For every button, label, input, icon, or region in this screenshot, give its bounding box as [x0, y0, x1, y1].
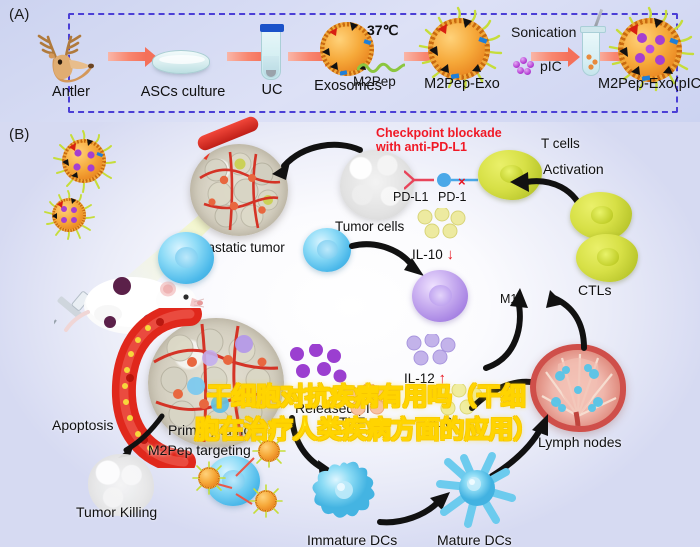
nanoparticle-1-cargo: [62, 139, 106, 183]
m2-macrophage-1: [158, 232, 214, 284]
pic-molecule-cluster: [513, 57, 537, 75]
label-apoptosis: Apoptosis: [52, 417, 113, 433]
m2pep-exo-pic-particle: [618, 18, 682, 82]
stage-m2pep-exo: M2Pep-Exo: [404, 14, 520, 106]
stage-antler: Antler: [28, 24, 114, 104]
m1-macrophage: [412, 270, 468, 322]
label-tumor-killing: Tumor Killing: [76, 504, 157, 520]
nanoparticle-floating-1: [62, 139, 106, 183]
label-primary-tumor: Primary tumor: [168, 422, 256, 438]
il-6-trend-arrow: ↑: [456, 414, 464, 431]
immature-dendritic-cell: [306, 456, 388, 530]
label-immature-dcs: Immature DCs: [307, 532, 397, 548]
caption-uc: UC: [262, 82, 283, 98]
pic-particle-cargo: [618, 18, 682, 82]
panel-a-label: (A): [9, 6, 30, 23]
tube-cap: [260, 24, 284, 32]
panel-b: (B): [0, 122, 700, 547]
ctl-cell-2: [576, 234, 638, 282]
sonication-tube-icon: [582, 30, 600, 76]
label-pd-l1: PD-L1: [393, 190, 428, 204]
caption-m2pep-exo: M2Pep-Exo: [424, 76, 500, 92]
m2pep-exosome-particle: [428, 18, 490, 80]
temperature-label: 37℃: [367, 22, 398, 39]
caption-ascs-culture: ASCs culture: [141, 84, 226, 100]
tumor-cells-cluster: [340, 150, 414, 220]
targeting-nanoparticle-1: [198, 467, 220, 489]
nanoparticle-floating-2: [52, 198, 86, 232]
nanoparticle-2-cargo: [52, 198, 86, 232]
released-pic-particles: [288, 344, 348, 388]
label-pd-1: PD-1: [438, 190, 466, 204]
ctl-cell-1: [570, 192, 632, 240]
m2-macrophage-2: [303, 228, 351, 272]
tube-contents: [583, 31, 601, 77]
label-tumor-cells: Tumor cells: [335, 219, 404, 234]
il-10-trend-arrow: ↓: [447, 246, 455, 263]
targeting-nanoparticle-3: [255, 490, 277, 512]
cytokine-il-6: IL-6 ↑: [429, 414, 464, 431]
tnf-alpha-trend-arrow: ↑: [381, 414, 389, 431]
figure-canvas: (A): [0, 0, 700, 547]
stage-m2pep-exo-pic: M2Pep-Exo(pIC): [606, 14, 698, 106]
stage-uc: UC: [237, 22, 307, 104]
caption-antler: Antler: [52, 84, 90, 100]
anti-pd-l1-antibody-icon: [404, 171, 434, 189]
arrow-m2-to-m1-repolarization: [350, 236, 428, 282]
panel-b-label: (B): [9, 126, 30, 143]
centrifuge-tube-icon: [261, 30, 281, 80]
panel-a: (A): [0, 0, 700, 122]
il-12-cytokine-particles: [403, 334, 461, 370]
svg-text:×: ×: [458, 174, 466, 189]
stage-ascs-culture: ASCs culture: [138, 24, 228, 104]
caption-m2pep-exo-pic: M2Pep-Exo(pIC): [598, 76, 700, 92]
arrow-lymphnode-to-ctls: [528, 292, 598, 354]
label-mature-dcs: Mature DCs: [437, 532, 512, 548]
mature-dendritic-cell: [434, 450, 520, 530]
label-t-cells: T cells: [541, 136, 580, 151]
m2pep-label: M2Pep: [353, 74, 396, 89]
arrow-m1-to-ctl-loop: [466, 292, 536, 374]
targeting-nanoparticle-2: [258, 440, 280, 462]
il-6-label: IL-6: [429, 415, 452, 430]
m2pep-exosome-proteins: [428, 18, 490, 80]
pd-l1-receptor-icon: [437, 173, 451, 187]
petri-dish-icon: [152, 50, 210, 74]
m2pep-peptide-icon: [357, 60, 405, 74]
deer-icon: [36, 32, 98, 84]
